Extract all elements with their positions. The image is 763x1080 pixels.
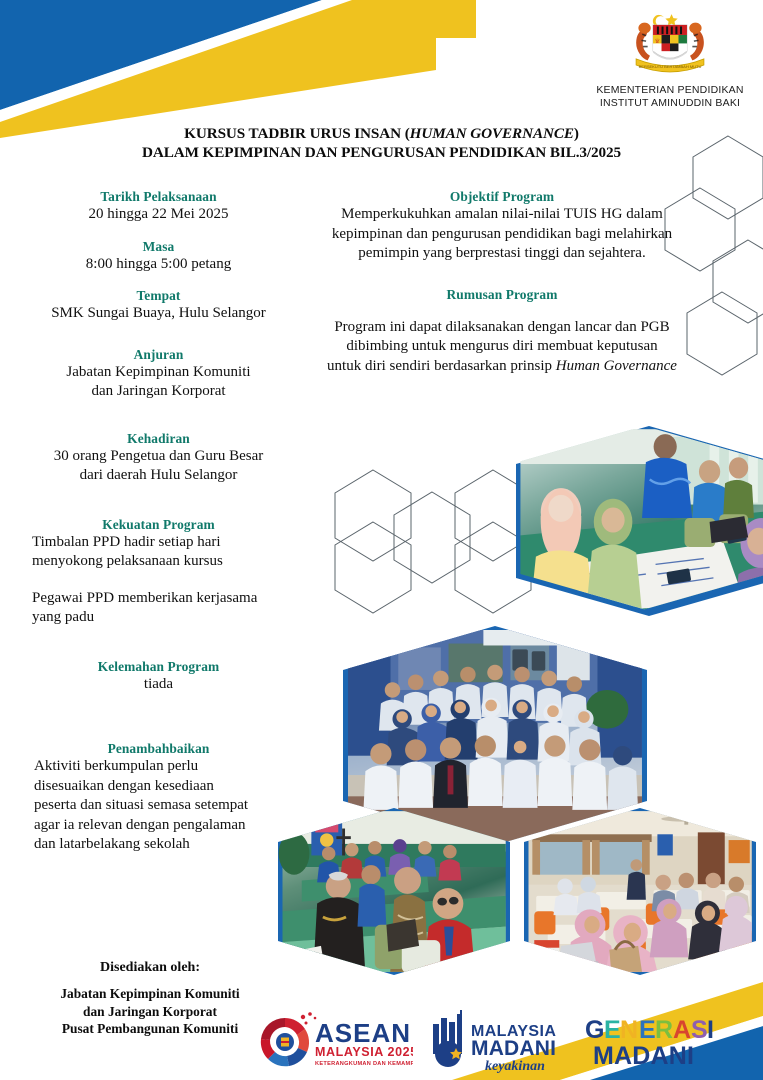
ministry-line-1: KEMENTERIAN PENDIDIKAN: [585, 84, 755, 97]
value-kekuatan-line-1: Timbalan PPD hadir setiap hari: [6, 533, 311, 553]
photo-workshop-group-discussion: [516, 426, 763, 616]
heading-tarikh: Tarikh Pelaksanaan: [6, 188, 311, 205]
value-kekuatan-line-4: yang padu: [6, 608, 311, 628]
svg-text:A: A: [673, 1016, 691, 1044]
heading-kehadiran: Kehadiran: [6, 430, 311, 447]
svg-text:BERSEKUTU BERTAMBAH MUTU: BERSEKUTU BERTAMBAH MUTU: [639, 64, 702, 69]
svg-text:R: R: [655, 1016, 673, 1044]
asean-malaysia-2025-logo: ASEAN MALAYSIA 2025 KETERANGKUMAN DAN KE…: [255, 1010, 413, 1074]
value-rumusan-line-2: dibimbing untuk mengurus diri membuat ke…: [292, 337, 712, 357]
page-title: KURSUS TADBIR URUS INSAN (HUMAN GOVERNAN…: [0, 124, 763, 162]
madani-line-2: MADANI: [471, 1037, 556, 1060]
generasi-madani-logo: G E N E R A S I MADANI: [585, 1010, 735, 1074]
info-block-penambahbaikan: Penambahbaikan Aktiviti berkumpulan perl…: [6, 740, 311, 855]
info-block-tarikh: Tarikh Pelaksanaan 20 hingga 22 Mei 2025: [6, 188, 311, 225]
heading-anjuran: Anjuran: [6, 346, 311, 363]
value-anjuran-line-2: dan Jaringan Korporat: [6, 382, 311, 402]
malaysia-coat-of-arms-icon: ۩ BERSEKUTU BERTAMBAH MUTU: [623, 8, 717, 82]
info-block-tempat: Tempat SMK Sungai Buaya, Hulu Selangor: [6, 287, 311, 324]
title-line-1-italic: HUMAN GOVERNANCE: [410, 125, 574, 142]
photo-classroom-session: [524, 808, 756, 975]
title-line-1: KURSUS TADBIR URUS INSAN (HUMAN GOVERNAN…: [0, 124, 763, 143]
org-line-1: Jabatan Kepimpinan Komuniti: [0, 985, 300, 1003]
malaysia-madani-logo: MALAYSIA MADANI keyakinan: [427, 1010, 577, 1074]
heading-masa: Masa: [6, 238, 311, 255]
value-kekuatan-line-3: Pegawai PPD memberikan kerjasama: [6, 589, 311, 609]
svg-text:E: E: [639, 1016, 656, 1044]
value-penambahbaikan-line-1: Aktiviti berkumpulan perlu: [6, 757, 311, 777]
left-info-column: Tarikh Pelaksanaan 20 hingga 22 Mei 2025…: [6, 188, 311, 868]
madani-script: keyakinan: [485, 1059, 545, 1074]
photo-seated-participants-hall: [278, 808, 510, 975]
value-objektif-line-2: kepimpinan dan pengurusan pendidikan bag…: [292, 225, 712, 245]
prepared-by-label: Disediakan oleh:: [0, 960, 300, 976]
info-block-kekuatan: Kekuatan Program Timbalan PPD hadir seti…: [6, 516, 311, 628]
value-masa: 8:00 hingga 5:00 petang: [6, 255, 311, 275]
value-penambahbaikan-line-4: agar ia relevan dengan pengalaman: [6, 816, 311, 836]
info-block-kehadiran: Kehadiran 30 orang Pengetua dan Guru Bes…: [6, 430, 311, 486]
svg-text:G: G: [585, 1016, 604, 1044]
heading-penambahbaikan: Penambahbaikan: [6, 740, 311, 757]
asean-tagline: KETERANGKUMAN DAN KEMAMPANAN: [315, 1061, 413, 1067]
heading-kelemahan: Kelemahan Program: [6, 658, 311, 675]
svg-text:S: S: [691, 1016, 708, 1044]
info-block-objektif: Objektif Program Memperkukuhkan amalan n…: [292, 188, 712, 264]
value-rumusan-line-3: untuk diri sendiri berdasarkan prinsip H…: [292, 357, 712, 377]
info-block-masa: Masa 8:00 hingga 5:00 petang: [6, 238, 311, 275]
value-rumusan-line-3-italic: Human Governance: [556, 358, 677, 374]
value-objektif-line-3: pemimpin yang berprestasi tinggi dan sej…: [292, 244, 712, 264]
value-penambahbaikan-line-5: dan latarbelakang sekolah: [6, 835, 311, 855]
value-rumusan-line-3-text: untuk diri sendiri berdasarkan prinsip: [327, 358, 556, 374]
hexagon-outline-pattern-middle: [335, 470, 531, 613]
heading-rumusan: Rumusan Program: [292, 286, 712, 303]
ministry-line-2: INSTITUT AMINUDDIN BAKI: [585, 97, 755, 110]
value-kehadiran-line-2: dari daerah Hulu Selangor: [6, 466, 311, 486]
generasi-madani-line-2: MADANI: [593, 1042, 694, 1070]
svg-text:N: N: [620, 1016, 638, 1044]
value-kehadiran-line-1: 30 orang Pengetua dan Guru Besar: [6, 447, 311, 467]
heading-objektif: Objektif Program: [292, 188, 712, 205]
value-kelemahan: tiada: [6, 675, 311, 695]
ministry-crest-block: ۩ BERSEKUTU BERTAMBAH MUTU KEMENTERIAN P…: [585, 8, 755, 110]
value-penambahbaikan-line-3: peserta dan situasi semasa setempat: [6, 796, 311, 816]
value-tarikh: 20 hingga 22 Mei 2025: [6, 205, 311, 225]
info-block-rumusan: Rumusan Program Program ini dapat dilaks…: [292, 286, 712, 377]
asean-wordmark: ASEAN: [315, 1018, 411, 1048]
info-block-anjuran: Anjuran Jabatan Kepimpinan Komuniti dan …: [6, 346, 311, 402]
value-anjuran-line-1: Jabatan Kepimpinan Komuniti: [6, 363, 311, 383]
madani-skyline-icon: [433, 1010, 462, 1067]
info-block-kelemahan: Kelemahan Program tiada: [6, 658, 311, 695]
logo-row: ASEAN MALAYSIA 2025 KETERANGKUMAN DAN KE…: [255, 1010, 763, 1080]
title-line-1-suffix: ): [574, 125, 579, 142]
value-rumusan-line-1: Program ini dapat dilaksanakan dengan la…: [292, 318, 712, 338]
title-line-1-prefix: KURSUS TADBIR URUS INSAN (: [184, 125, 410, 142]
value-kekuatan-line-2: menyokong pelaksanaan kursus: [6, 552, 311, 572]
heading-kekuatan: Kekuatan Program: [6, 516, 311, 533]
generasi-wordmark: G E N E R A S I: [585, 1016, 714, 1044]
heading-tempat: Tempat: [6, 287, 311, 304]
title-line-2: DALAM KEPIMPINAN DAN PENGURUSAN PENDIDIK…: [0, 143, 763, 162]
right-info-column: Objektif Program Memperkukuhkan amalan n…: [292, 188, 712, 389]
asean-spiral-icon: [259, 1012, 316, 1068]
svg-text:I: I: [707, 1016, 714, 1044]
svg-text:E: E: [604, 1016, 621, 1044]
svg-text:۩: ۩: [655, 37, 660, 44]
asean-subtitle: MALAYSIA 2025: [315, 1045, 413, 1059]
value-objektif-line-1: Memperkukuhkan amalan nilai-nilai TUIS H…: [292, 205, 712, 225]
value-penambahbaikan-line-2: disesuaikan dengan kesediaan: [6, 777, 311, 797]
value-tempat: SMK Sungai Buaya, Hulu Selangor: [6, 304, 311, 324]
